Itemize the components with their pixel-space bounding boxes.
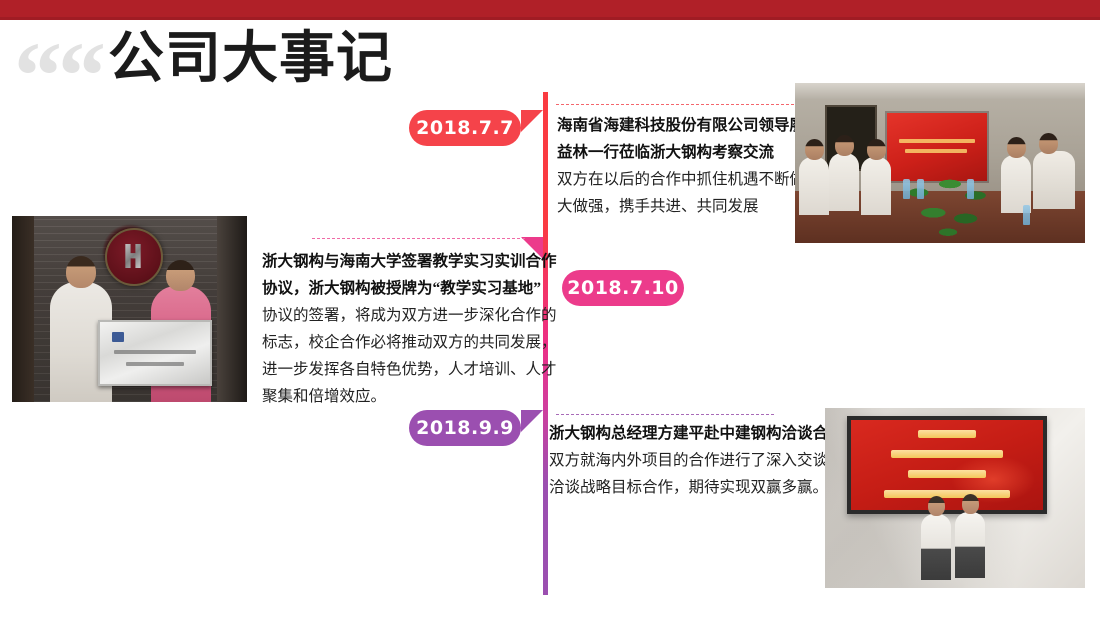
entry-text-3: 浙大钢构总经理方建平赴中建钢构洽谈合作 双方就海内外项目的合作进行了深入交谈， …	[549, 420, 844, 501]
ceiling	[795, 83, 1085, 99]
quote-mark-icon: ““	[14, 28, 102, 124]
date-badge-2[interactable]: 2018.7.10	[562, 270, 684, 306]
entry-line: 洽谈战略目标合作，期待实现双赢多赢。	[549, 474, 844, 501]
entry-line: 标志，校企合作必将推动双方的共同发展，	[262, 329, 557, 356]
entry-line: 进一步发挥各自特色优势，人才培训、人才	[262, 356, 557, 383]
person-head	[805, 139, 824, 160]
attendee	[799, 157, 829, 215]
page-title: 公司大事记	[108, 31, 393, 87]
entry-line: 浙大钢构总经理方建平赴中建钢构洽谈合作	[549, 420, 844, 447]
entry-line: 协议的签署，将成为双方进一步深化合作的	[262, 302, 557, 329]
flag-pointer-3	[521, 410, 543, 432]
flag-pointer-1	[521, 110, 543, 132]
water-bottle	[1023, 205, 1030, 225]
plaque-badge	[112, 332, 124, 342]
entry-line: 海南省海建科技股份有限公司领导廖	[557, 112, 805, 139]
attendee	[861, 157, 891, 215]
page-header: ““ 公司大事记	[14, 24, 393, 94]
entry-dashline-3	[556, 414, 774, 415]
water-bottle	[967, 179, 974, 199]
entry-line: 双方就海内外项目的合作进行了深入交谈，	[549, 447, 844, 474]
top-red-bar-shade	[0, 17, 1100, 20]
entry-dashline-2	[312, 238, 525, 239]
banner-text-line	[908, 470, 986, 478]
award-plaque	[98, 320, 212, 386]
banner-frame	[847, 416, 1047, 514]
person-head	[1039, 133, 1058, 154]
banner-text-line	[891, 450, 1003, 458]
entry-line: 聚集和倍增效应。	[262, 383, 557, 410]
person-head	[962, 494, 979, 514]
person-head	[867, 139, 886, 160]
plaque-text-line	[114, 350, 196, 354]
water-bottle	[917, 179, 924, 199]
potted-plant	[899, 171, 997, 243]
person-head	[835, 135, 854, 156]
date-badge-3[interactable]: 2018.9.9	[409, 410, 521, 446]
person-head	[166, 260, 195, 291]
attendee	[1033, 151, 1075, 209]
door-frame-right	[217, 216, 247, 402]
attendee	[829, 153, 859, 211]
banner-text-line	[884, 490, 1010, 498]
company-logo-emblem	[105, 228, 163, 286]
water-bottle	[903, 179, 910, 199]
person-right	[955, 512, 985, 578]
plaque-text-line	[126, 362, 184, 366]
entry-line: 协议，浙大钢构被授牌为“教学实习基地”	[262, 275, 557, 302]
photo-meeting-room	[795, 83, 1085, 243]
person-left	[921, 514, 951, 580]
photo-plaque-presentation	[12, 216, 247, 402]
date-badge-1[interactable]: 2018.7.7	[409, 110, 521, 146]
person-head	[1007, 137, 1026, 158]
screen-text-line	[905, 149, 967, 153]
person-head	[928, 496, 945, 516]
entry-text-2: 浙大钢构与海南大学签署教学实习实训合作 协议，浙大钢构被授牌为“教学实习基地” …	[262, 248, 557, 410]
entry-text-1: 海南省海建科技股份有限公司领导廖 益林一行莅临浙大钢构考察交流 双方在以后的合作…	[557, 112, 805, 220]
photo-welcome-banner	[825, 408, 1085, 588]
entry-line: 益林一行莅临浙大钢构考察交流	[557, 139, 805, 166]
door-frame-left	[12, 216, 34, 402]
banner-text-line	[918, 430, 976, 438]
entry-dashline-1	[556, 104, 799, 105]
entry-line: 浙大钢构与海南大学签署教学实习实训合作	[262, 248, 557, 275]
screen-text-line	[899, 139, 975, 143]
entry-line: 大做强，携手共进、共同发展	[557, 193, 805, 220]
banner-surface	[851, 420, 1043, 510]
person-head	[66, 256, 96, 288]
entry-line: 双方在以后的合作中抓住机遇不断做	[557, 166, 805, 193]
